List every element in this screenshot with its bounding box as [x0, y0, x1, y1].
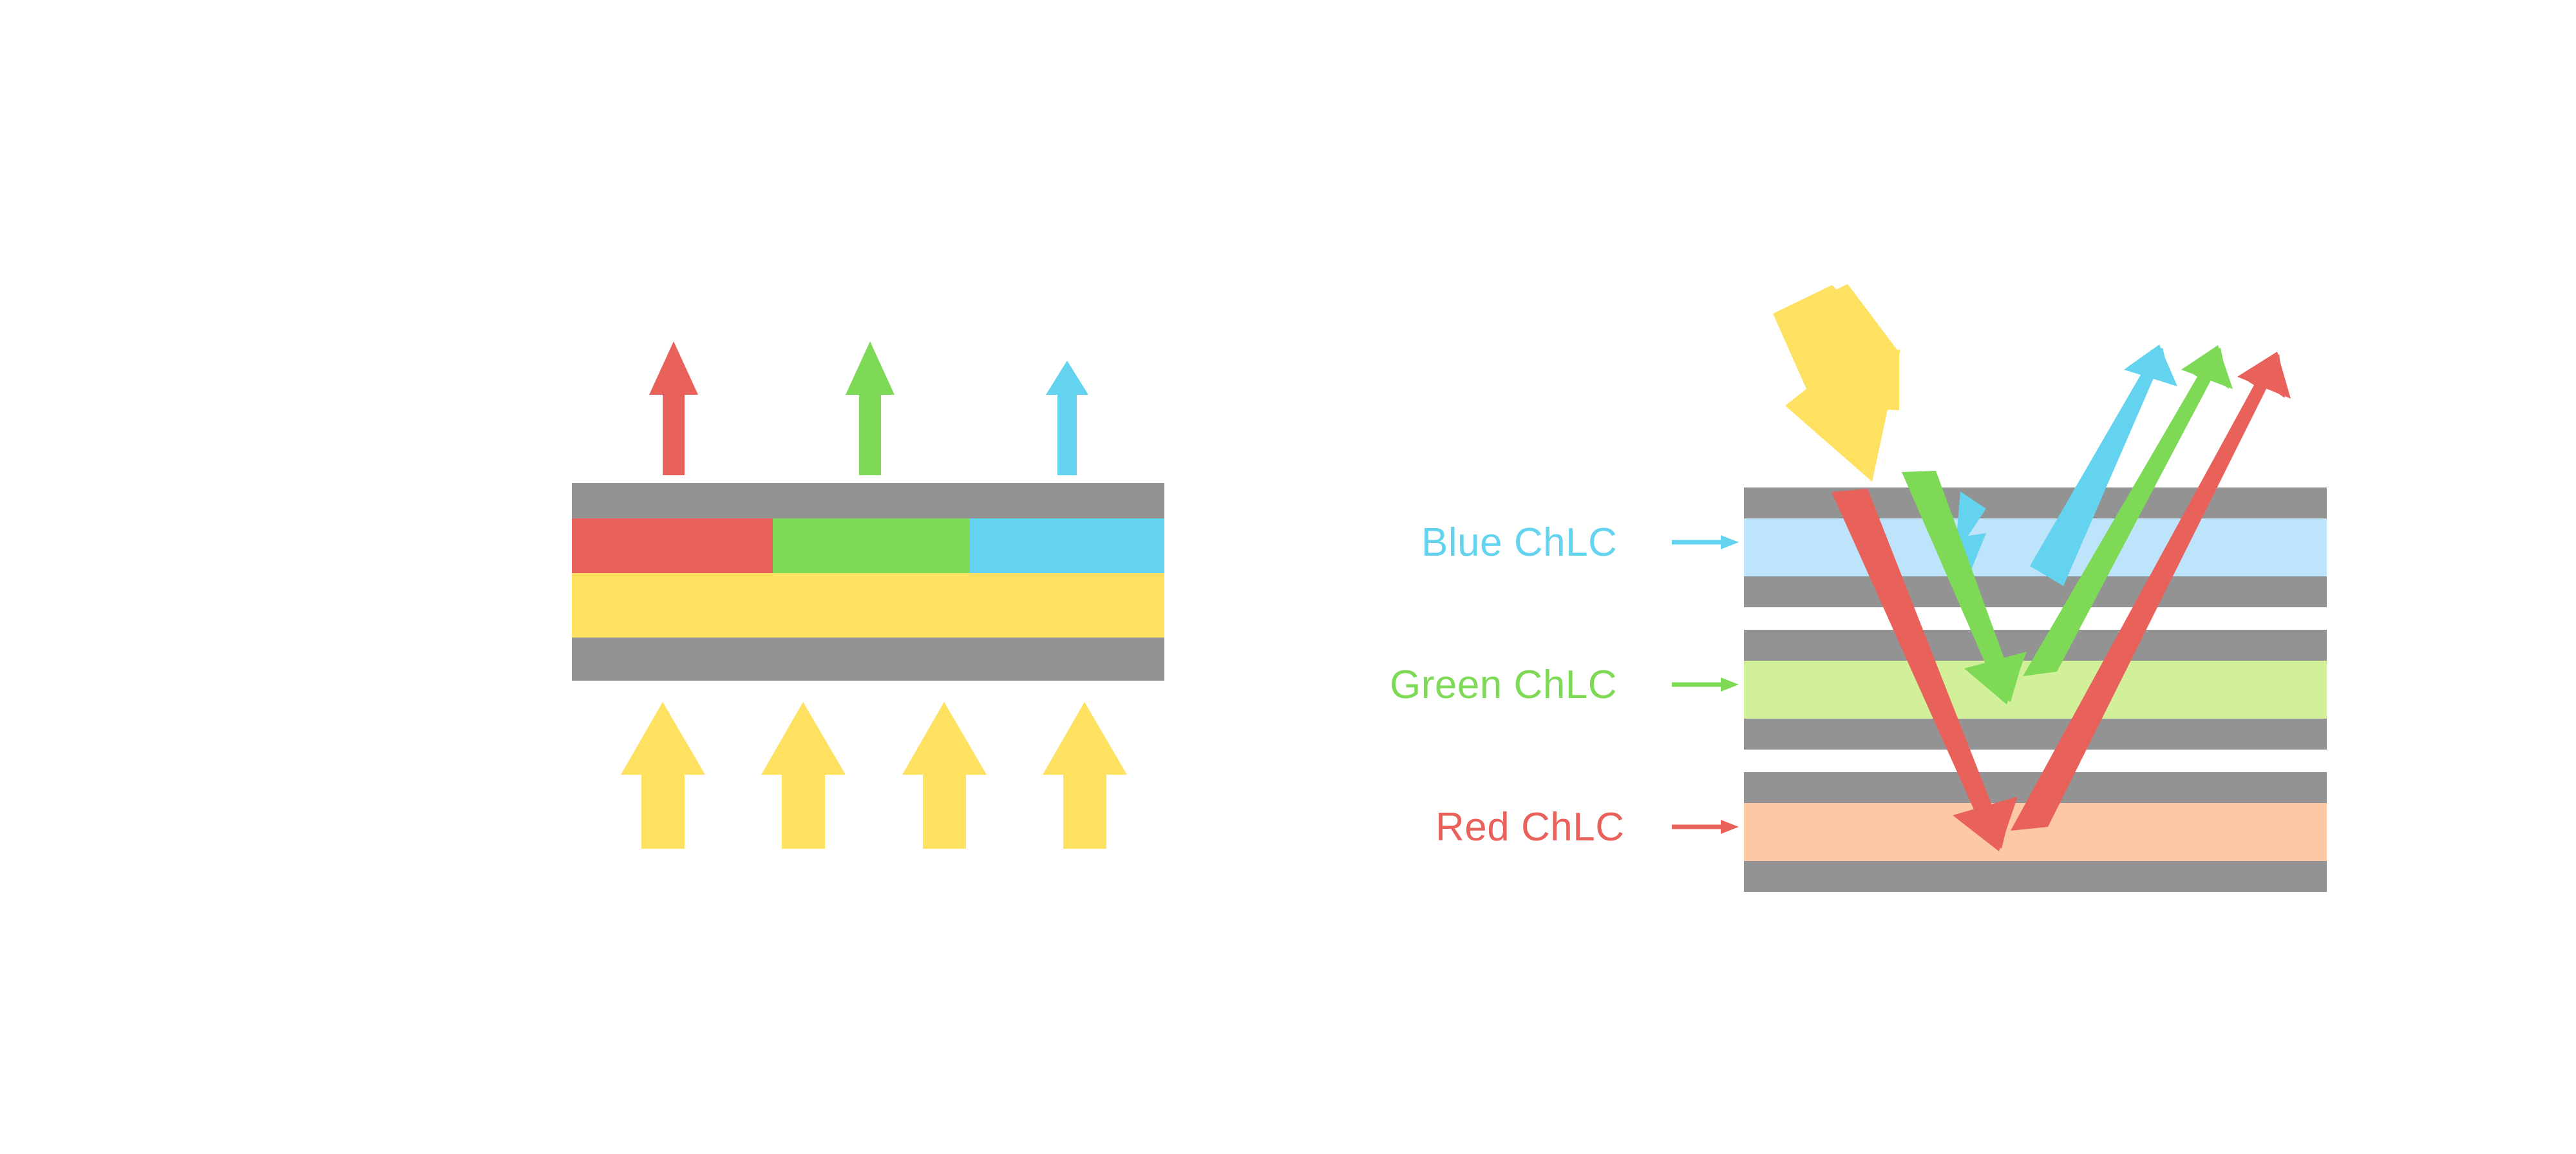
green-label-leader-arrow-icon: [1672, 677, 1739, 692]
green-chlc-label: Green ChLC: [1390, 665, 1617, 705]
ambient-light-group: [1773, 284, 1900, 482]
figure-canvas: Blue ChLC Green ChLC Red ChLC: [0, 0, 2576, 1154]
green-cell-bottom-electrode: [1744, 719, 2327, 750]
red-cell-bottom-electrode: [1744, 861, 2327, 892]
right-panel-reflective-chlc-stack: Blue ChLC Green ChLC Red ChLC: [0, 0, 2576, 1154]
red-label-leader-arrow-icon: [1672, 820, 1739, 834]
blue-cell-top-electrode: [1744, 487, 2327, 518]
blue-cell-bottom-electrode: [1744, 576, 2327, 607]
label-leader-group: [1672, 535, 1739, 834]
blue-chlc-label: Blue ChLC: [1421, 523, 1617, 563]
blue-label-leader-arrow-icon: [1672, 535, 1739, 549]
red-chlc-label: Red ChLC: [1435, 808, 1624, 847]
chlc-stack-group: [1744, 487, 2327, 892]
